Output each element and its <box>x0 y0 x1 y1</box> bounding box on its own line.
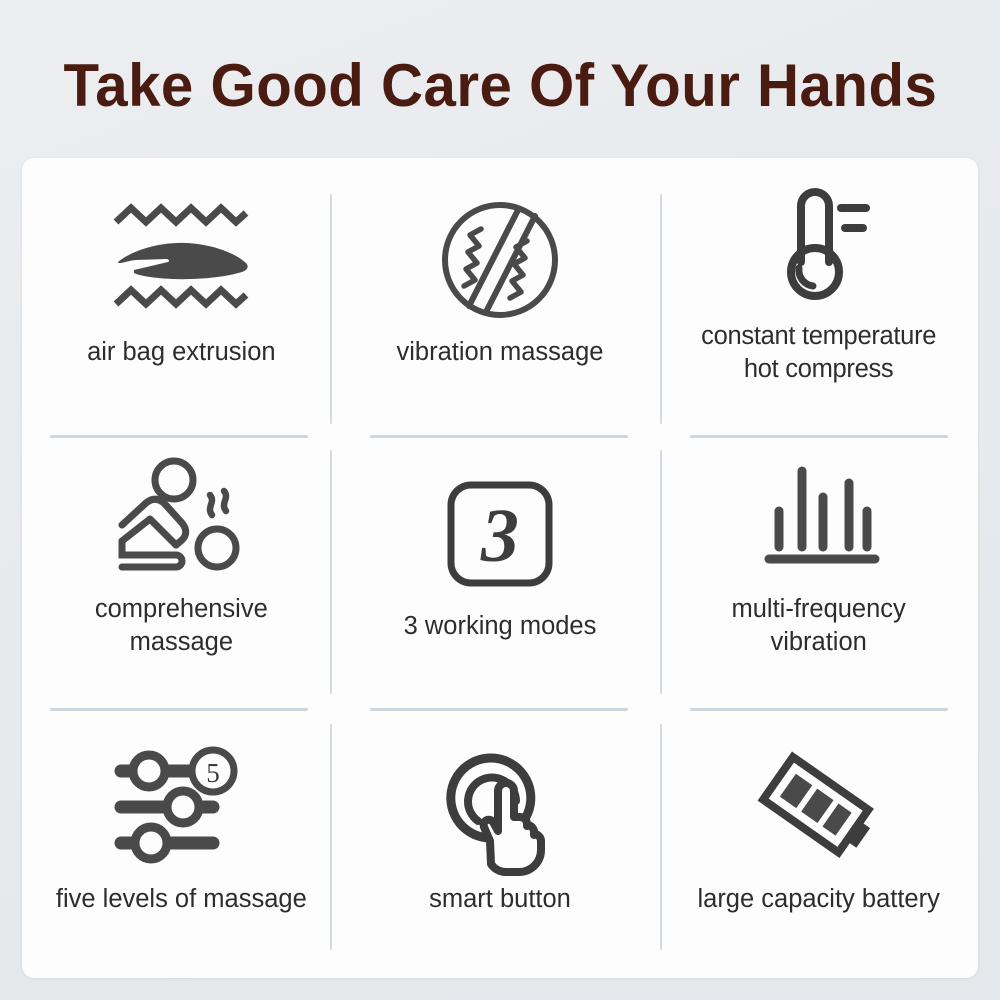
feature-cell-air-bag-extrusion[interactable]: air bag extrusion <box>22 158 341 431</box>
divider-horizontal <box>50 708 308 711</box>
feature-label: multi-frequency vibration <box>731 593 905 658</box>
page-title-container: Take Good Care Of Your Hands <box>0 56 1000 116</box>
divider-horizontal <box>690 435 948 438</box>
feature-card: air bag extrusion vibration <box>22 158 978 978</box>
feature-label: smart button <box>429 883 571 916</box>
divider-horizontal <box>50 435 308 438</box>
feature-cell-smart-button[interactable]: smart button <box>341 705 660 978</box>
divider-vertical <box>660 724 662 950</box>
divider-horizontal <box>690 708 948 711</box>
touch-hand-icon <box>415 741 585 873</box>
feature-cell-five-levels[interactable]: 5 five levels of massage <box>22 705 341 978</box>
divider-vertical <box>660 450 662 694</box>
product-feature-infographic: Take Good Care Of Your Hands air bag ext… <box>0 0 1000 1000</box>
feature-cell-vibration-massage[interactable]: vibration massage <box>341 158 660 431</box>
hand-between-waves-icon <box>96 194 266 326</box>
circle-zigzag-vibration-icon <box>415 194 585 326</box>
feature-label: vibration massage <box>397 336 604 369</box>
thermometer-icon <box>734 178 904 310</box>
divider-horizontal <box>370 708 628 711</box>
feature-label: air bag extrusion <box>87 336 276 369</box>
divider-vertical <box>660 194 662 424</box>
feature-cell-comprehensive-massage[interactable]: comprehensive massage <box>22 431 341 704</box>
feature-cell-working-modes[interactable]: 3 3 working modes <box>341 431 660 704</box>
feature-label: five levels of massage <box>56 883 307 916</box>
five-levels-number: 5 <box>207 758 221 788</box>
divider-vertical <box>330 724 332 950</box>
feature-label: large capacity battery <box>697 883 939 916</box>
feature-cell-constant-temperature[interactable]: constant temperature hot compress <box>659 158 978 431</box>
divider-horizontal <box>370 435 628 438</box>
feature-cell-battery[interactable]: large capacity battery <box>659 705 978 978</box>
rounded-square-three-icon: 3 <box>415 468 585 600</box>
feature-label: 3 working modes <box>404 610 597 643</box>
page-title: Take Good Care Of Your Hands <box>63 56 937 116</box>
divider-vertical <box>330 450 332 694</box>
feature-label: constant temperature hot compress <box>701 320 936 385</box>
feature-label: comprehensive massage <box>95 593 268 658</box>
battery-icon <box>734 741 904 873</box>
person-massage-table-icon <box>96 451 266 583</box>
feature-grid: air bag extrusion vibration <box>22 158 978 978</box>
feature-cell-multi-frequency[interactable]: multi-frequency vibration <box>659 431 978 704</box>
working-modes-number: 3 <box>480 494 519 578</box>
sliders-five-icon: 5 <box>96 741 266 873</box>
frequency-bars-icon <box>734 451 904 583</box>
divider-vertical <box>330 194 332 424</box>
